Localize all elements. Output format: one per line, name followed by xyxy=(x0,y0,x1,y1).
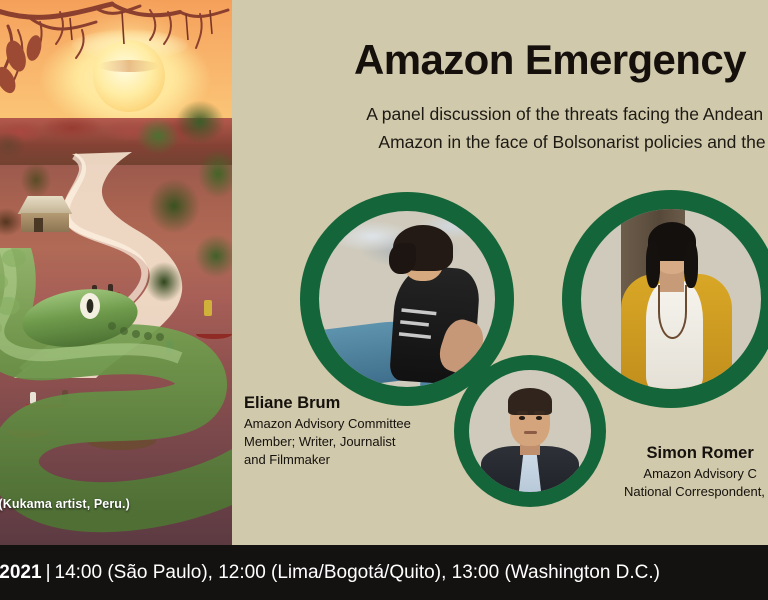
speaker-caption-eliane-brum: Eliane Brum Amazon Advisory Committee Me… xyxy=(244,393,411,469)
speaker-role-line: Amazon Advisory Committee xyxy=(244,415,411,433)
page-subtitle: A panel discussion of the threats facing… xyxy=(272,100,768,157)
speaker-role-line: Member; Writer, Journalist xyxy=(244,433,411,451)
artwork-hut xyxy=(14,196,76,232)
poster-root: edes (Kukama artist, Peru.) Amazon Emerg… xyxy=(0,0,768,600)
content-panel: Amazon Emergency A panel discussion of t… xyxy=(232,0,768,545)
subtitle-line-2: Amazon in the face of Bolsonarist polici… xyxy=(272,128,768,156)
footer-separator: | xyxy=(42,562,55,583)
portrait-simon-romero xyxy=(454,355,606,507)
speaker-name: Eliane Brum xyxy=(244,393,411,415)
artist-credit: edes (Kukama artist, Peru.) xyxy=(0,497,130,511)
speaker-caption-simon-romero: Simon Romer Amazon Advisory C National C… xyxy=(624,443,768,501)
artwork-panel: edes (Kukama artist, Peru.) xyxy=(0,0,232,545)
footer-year: 2021 xyxy=(0,562,42,583)
footer-bar: ,2021|14:00 (São Paulo), 12:00 (Lima/Bog… xyxy=(0,545,768,600)
footer-times: 14:00 (São Paulo), 12:00 (Lima/Bogotá/Qu… xyxy=(55,562,661,583)
avatar xyxy=(319,211,495,387)
subtitle-line-1: A panel discussion of the threats facing… xyxy=(272,100,768,128)
speaker-name: Simon Romer xyxy=(624,443,768,465)
footer-text: ,2021|14:00 (São Paulo), 12:00 (Lima/Bog… xyxy=(0,562,660,584)
portrait-second-panelist xyxy=(562,190,768,408)
speaker-role-line: National Correspondent, T xyxy=(624,483,768,501)
speaker-role-line: and Filmmaker xyxy=(244,451,411,469)
avatar xyxy=(469,370,591,492)
avatar xyxy=(581,209,761,389)
speaker-role-line: Amazon Advisory C xyxy=(624,465,768,483)
page-title: Amazon Emergency xyxy=(354,36,746,84)
